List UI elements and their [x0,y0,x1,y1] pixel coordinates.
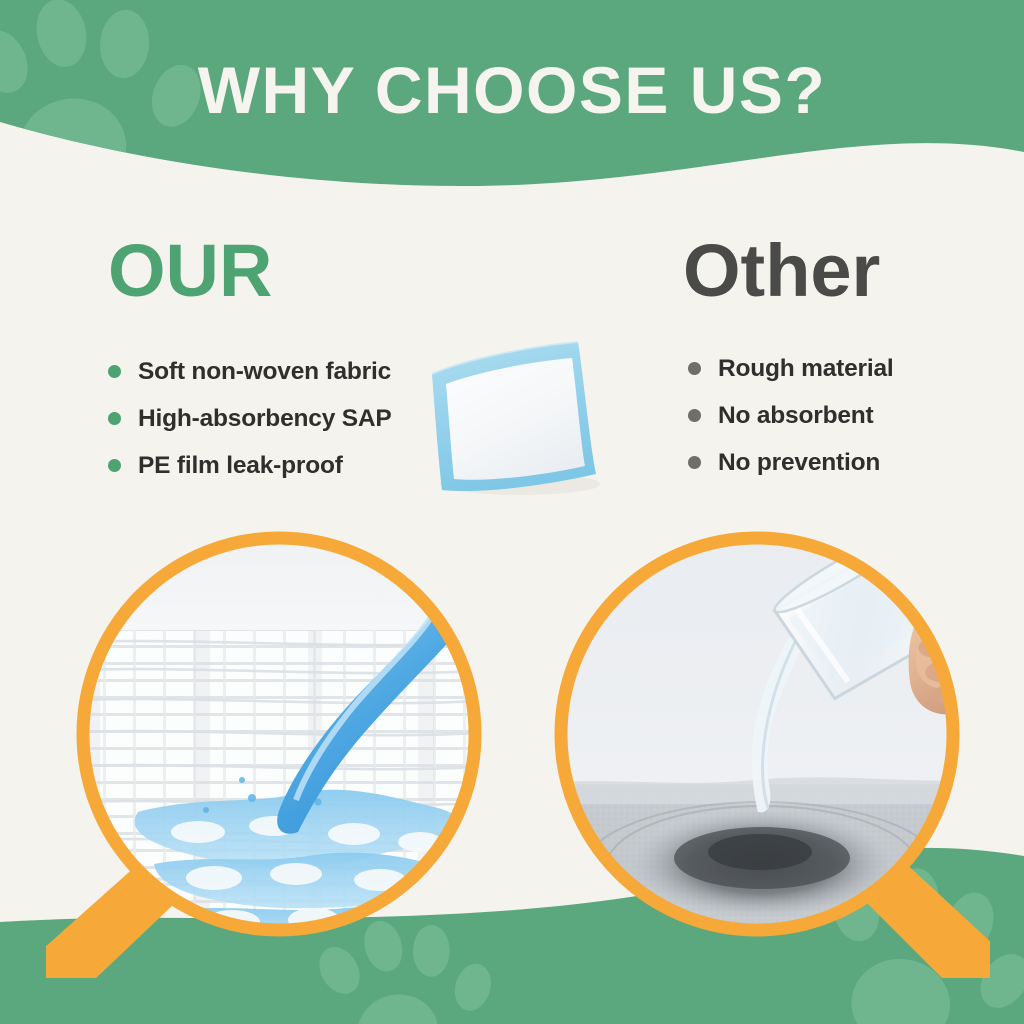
bullet-dot-icon [688,362,701,375]
list-item: Rough material [688,345,894,392]
list-item-label: No absorbent [718,402,874,430]
list-item: PE film leak-proof [108,442,392,489]
bullet-dot-icon [108,459,121,472]
list-item: No prevention [688,439,894,486]
list-item-label: No prevention [718,449,880,477]
page-title: WHY CHOOSE US? [0,52,1024,128]
other-column-heading: Other [683,228,880,313]
infographic-root: WHY CHOOSE US? OUR Other Soft non-woven … [0,0,1024,1024]
list-item: High-absorbency SAP [108,395,392,442]
bullet-dot-icon [108,365,121,378]
list-item-label: PE film leak-proof [138,452,343,480]
bullet-dot-icon [688,409,701,422]
list-item: Soft non-woven fabric [108,348,392,395]
bullet-dot-icon [108,412,121,425]
list-item-label: Rough material [718,355,894,383]
magnifier-our [46,512,512,978]
our-column-heading: OUR [108,228,272,313]
list-item-label: Soft non-woven fabric [138,358,391,386]
magnifier-other [524,512,990,978]
list-item-label: High-absorbency SAP [138,405,392,433]
bullet-dot-icon [688,456,701,469]
our-feature-list: Soft non-woven fabric High-absorbency SA… [108,348,392,489]
pee-pad-image [424,334,610,502]
list-item: No absorbent [688,392,894,439]
other-feature-list: Rough material No absorbent No preventio… [688,345,894,486]
